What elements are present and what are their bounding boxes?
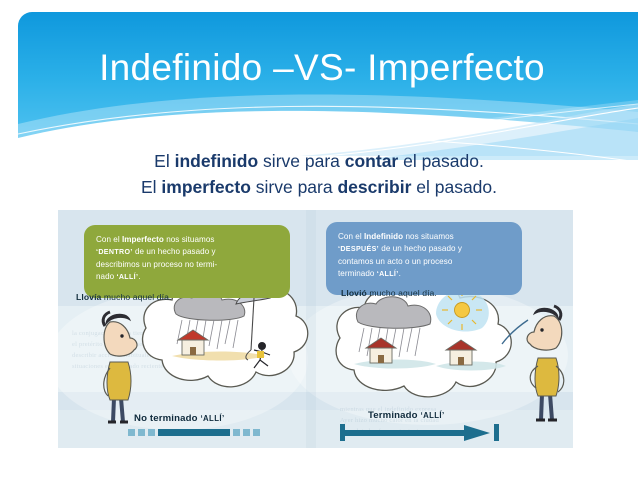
subtitle2-part1: El — [141, 177, 161, 197]
indefinido-line1-post: nos situamos — [403, 232, 454, 241]
timeline-segment — [128, 429, 135, 436]
imperfecto-alli-quote: ‘ALLÍ’ — [117, 273, 139, 281]
timeline-segment — [233, 429, 240, 436]
slide-canvas: Indefinido –VS- Imperfecto El indefinido… — [0, 0, 638, 479]
example-rest-right: mucho aquel día. — [367, 288, 437, 298]
page-title: Indefinido –VS- Imperfecto — [18, 46, 626, 90]
timeline-segment — [253, 429, 260, 436]
indefinido-line4-post: . — [399, 269, 401, 278]
timeline-segment — [148, 429, 155, 436]
label-terminado-quote: ‘ALLÍ’ — [421, 411, 445, 420]
indefinido-alli-quote: ‘ALLÍ’ — [377, 270, 399, 278]
timeline-unfinished — [128, 429, 263, 436]
subtitle2-bold-imperfecto: imperfecto — [161, 177, 250, 197]
textbook-figure-image: la conjugación de los tiempos del pasado… — [58, 210, 573, 448]
label-no-terminado: No terminado ‘ALLÍ’ — [134, 413, 225, 424]
subtitle1-part1: El — [154, 151, 174, 171]
subtitle-line-indefinido: El indefinido sirve para contar el pasad… — [0, 148, 638, 174]
subtitle2-part2: sirve para — [251, 177, 338, 197]
subtitle-line-imperfecto: El imperfecto sirve para describir el pa… — [0, 174, 638, 200]
subtitle1-part3: el pasado. — [398, 151, 484, 171]
observer-figure-left — [103, 312, 137, 422]
timeline-finished — [340, 422, 530, 444]
timeline-segment — [243, 429, 250, 436]
indefinido-line3: contamos un acto o un proceso — [338, 257, 452, 266]
indefinido-line2-rest: de un hecho pasado y — [379, 244, 462, 253]
label-no-terminado-quote: ‘ALLÍ’ — [200, 414, 224, 423]
imperfecto-caption-box: Con el Imperfecto nos situamos ‘DENTRO’ … — [84, 225, 290, 298]
imperfecto-line4-pre: nado — [96, 272, 117, 281]
subtitle-block: El indefinido sirve para contar el pasad… — [0, 148, 638, 200]
subtitle2-bold-describir: describir — [337, 177, 411, 197]
imperfecto-line1-pre: Con el — [96, 235, 122, 244]
label-terminado-text: Terminado — [368, 410, 421, 421]
imperfecto-line3: describimos un proceso no termi- — [96, 260, 217, 269]
example-verb-llovia: Llovía — [76, 292, 101, 302]
subtitle1-bold-contar: contar — [345, 151, 398, 171]
indefinido-line1-pre: Con el — [338, 232, 364, 241]
label-terminado: Terminado ‘ALLÍ’ — [368, 410, 445, 421]
indefinido-line1-bold: Indefinido — [364, 232, 403, 241]
subtitle1-bold-indefinido: indefinido — [175, 151, 259, 171]
subtitle1-part2: sirve para — [258, 151, 345, 171]
observer-figure-right — [527, 306, 564, 420]
thought-bubble-indefinido — [336, 283, 511, 397]
indefinido-despues-quote: ‘DESPUÉS’ — [338, 245, 379, 253]
example-verb-llovio: Llovió — [341, 288, 367, 298]
example-sentence-imperfecto: Llovía mucho aquel día. — [76, 292, 171, 302]
timeline-arrow-icon — [340, 422, 530, 444]
example-sentence-indefinido: Llovió mucho aquel día. — [341, 288, 437, 298]
indefinido-line4-pre: terminado — [338, 269, 377, 278]
sun-icon — [442, 290, 482, 330]
imperfecto-line1-bold: Imperfecto — [122, 235, 164, 244]
imperfecto-dentro-quote: ‘DENTRO’ — [96, 248, 133, 256]
subtitle2-part3: el pasado. — [411, 177, 497, 197]
timeline-segment — [138, 429, 145, 436]
example-rest-left: mucho aquel día. — [101, 292, 171, 302]
timeline-segment-main — [158, 429, 230, 436]
imperfecto-line1-post: nos situamos — [164, 235, 215, 244]
imperfecto-line2-rest: de un hecho pasado y — [133, 247, 216, 256]
imperfecto-line4-post: . — [138, 272, 140, 281]
label-no-terminado-text: No terminado — [134, 413, 200, 424]
indefinido-caption-box: Con el Indefinido nos situamos ‘DESPUÉS’… — [326, 222, 522, 295]
